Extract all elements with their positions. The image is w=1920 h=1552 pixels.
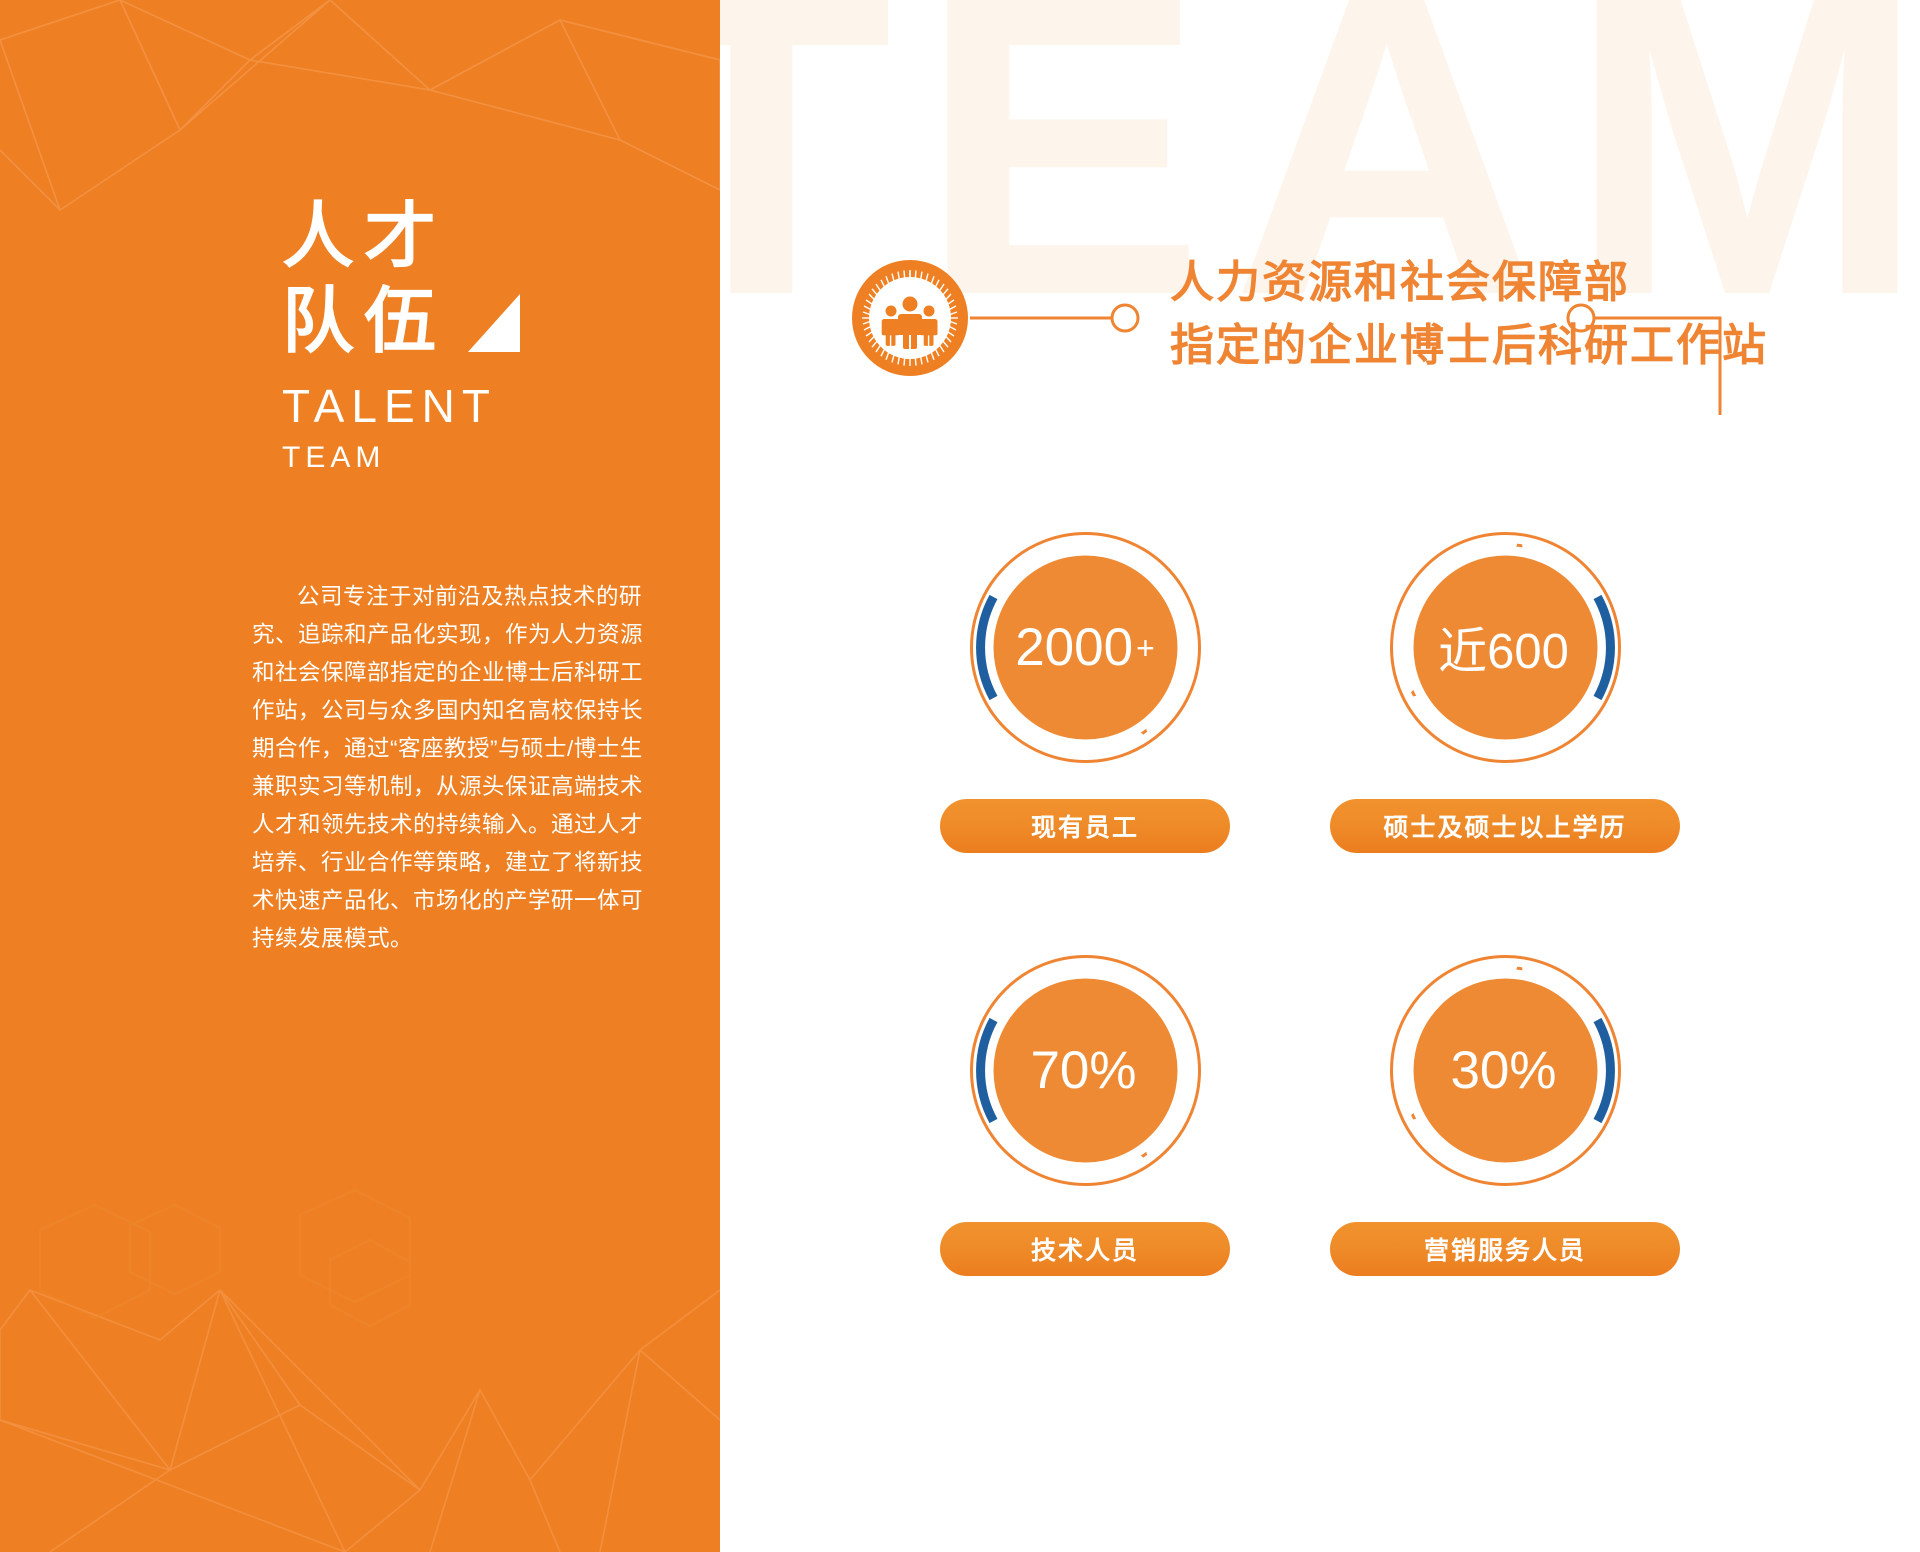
ring-gauge: 近600 — [1388, 530, 1623, 765]
page-title-cn-line2: 队伍 — [282, 280, 682, 365]
stat-card-employees[interactable]: 2000+ 现有员工 — [940, 530, 1230, 853]
stat-label-pill[interactable]: 硕士及硕士以上学历 — [1330, 799, 1680, 853]
stat-value: 近600 — [1388, 530, 1623, 765]
stat-label-pill[interactable]: 技术人员 — [940, 1222, 1230, 1276]
ring-gauge: 30% — [1388, 953, 1623, 1188]
stat-value-number: 70% — [1030, 1040, 1136, 1101]
stat-value: 30% — [1388, 953, 1623, 1188]
stat-label-pill[interactable]: 营销服务人员 — [1330, 1222, 1680, 1276]
header-title-line2: 指定的企业博士后科研工作站 — [1170, 314, 1768, 377]
stat-card-technical[interactable]: 70% 技术人员 — [940, 953, 1230, 1276]
intro-paragraph: 公司专注于对前沿及热点技术的研究、追踪和产品化实现，作为人力资源和社会保障部指定… — [252, 578, 652, 958]
page-title-cn-line2-text: 队伍 — [282, 282, 446, 362]
stat-value: 2000+ — [968, 530, 1203, 765]
stat-value-number: 30% — [1450, 1040, 1556, 1101]
stats-row-2: 70% 技术人员 — [720, 953, 1920, 1383]
intro-paragraph-block: 公司专注于对前沿及热点技术的研究、追踪和产品化实现，作为人力资源和社会保障部指定… — [252, 578, 652, 958]
title-block: 人才 队伍 TALENT TEAM — [282, 195, 682, 473]
stat-value: 70% — [968, 953, 1203, 1188]
triangle-accent-icon — [468, 294, 520, 352]
stat-value-suffix: + — [1136, 632, 1155, 664]
ring-gauge: 70% — [968, 953, 1203, 1188]
page-subtitle-en: TEAM — [282, 443, 682, 473]
stat-card-marketing[interactable]: 30% 营销服务人员 — [1360, 953, 1650, 1276]
page-title-en: TALENT — [282, 383, 682, 429]
stats-row-1: 2000+ 现有员工 — [720, 530, 1920, 960]
stat-label-pill[interactable]: 现有员工 — [940, 799, 1230, 853]
header-title-line1: 人力资源和社会保障部 — [1170, 251, 1768, 314]
left-orange-panel: 人才 队伍 TALENT TEAM 公司专注于对前沿及热点技术的研究、追踪和产品… — [0, 0, 720, 1552]
stat-card-masters[interactable]: 近600 硕士及硕士以上学历 — [1360, 530, 1650, 853]
header-title: 人力资源和社会保障部 指定的企业博士后科研工作站 — [1170, 251, 1768, 377]
stat-value-number: 近600 — [1438, 612, 1569, 683]
stat-value-number: 2000 — [1015, 617, 1133, 678]
right-content-panel: TEAM — [720, 0, 1920, 1552]
ring-gauge: 2000+ — [968, 530, 1203, 765]
talent-team-infographic-page: 人才 队伍 TALENT TEAM 公司专注于对前沿及热点技术的研究、追踪和产品… — [0, 0, 1920, 1552]
page-title-cn-line1: 人才 — [282, 195, 682, 280]
section-header: 人力资源和社会保障部 指定的企业博士后科研工作站 — [720, 245, 1920, 405]
